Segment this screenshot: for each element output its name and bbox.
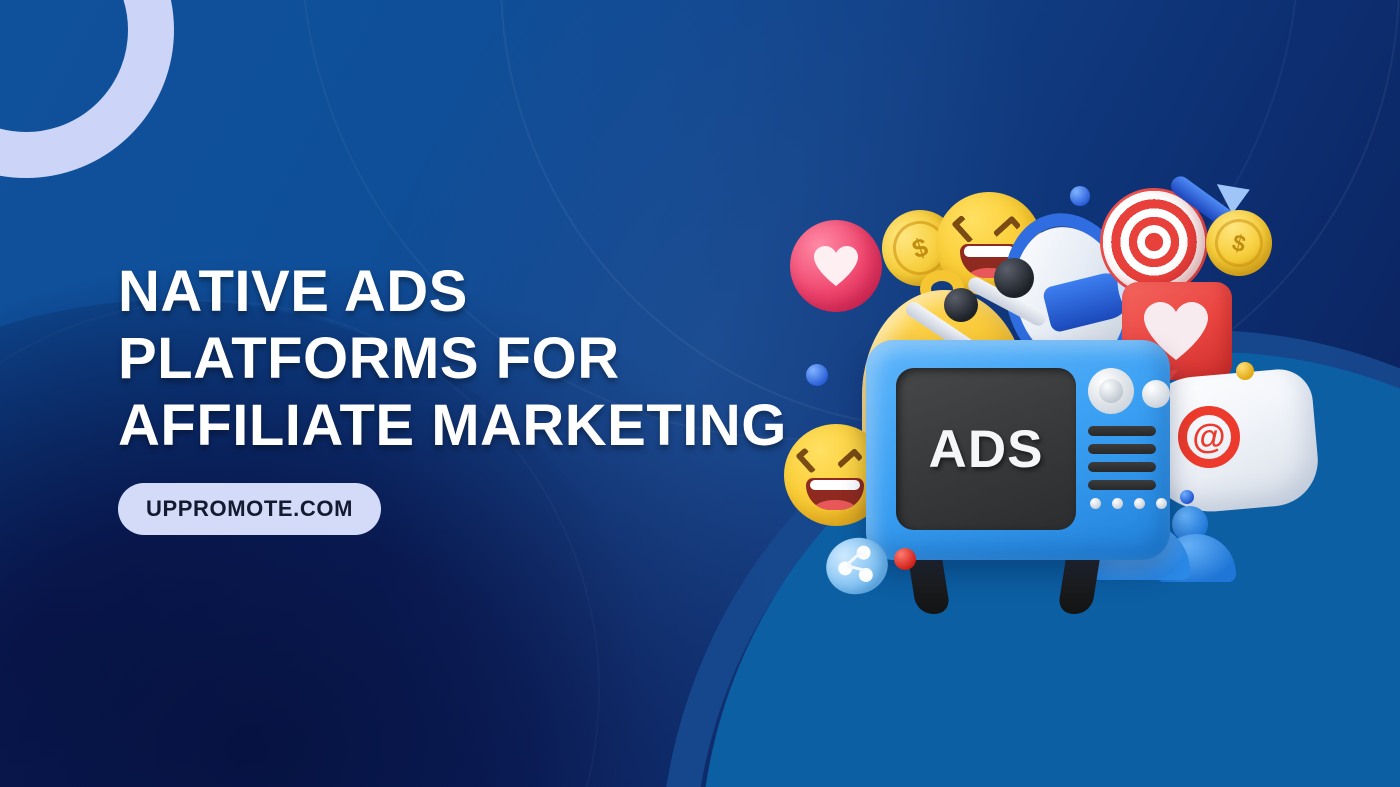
tv-dot-3 <box>1134 498 1145 509</box>
tv-bar-2 <box>1088 444 1156 454</box>
megaphone-joint-lower <box>944 288 978 322</box>
sphere-blue-small <box>1180 490 1194 504</box>
headline-line-3: AFFILIATE MARKETING <box>118 392 758 459</box>
emoji-mouth-2 <box>806 478 864 510</box>
tv-bar-1 <box>1088 426 1156 436</box>
sphere-blue-top <box>1070 186 1090 206</box>
sphere-red <box>894 548 916 570</box>
tv-screen: ADS <box>896 368 1076 530</box>
decorative-ring-top-left <box>0 0 174 178</box>
tv-leg-right <box>1057 552 1101 614</box>
brand-badge[interactable]: UPPROMOTE.COM <box>118 483 381 535</box>
at-sign-icon: @ <box>1178 406 1240 468</box>
headline-line-2: PLATFORMS FOR <box>118 325 758 392</box>
headline-line-1: NATIVE ADS <box>118 258 758 325</box>
emoji-eye-left <box>951 215 979 244</box>
sphere-blue-left <box>806 364 828 386</box>
sphere-yellow <box>1236 362 1254 380</box>
hero-illustration: $ $ @ <box>770 170 1300 610</box>
page-title: NATIVE ADS PLATFORMS FOR AFFILIATE MARKE… <box>118 258 758 459</box>
tv-knob-icon <box>1142 380 1170 408</box>
tv-dot-2 <box>1112 498 1123 509</box>
headline-block: NATIVE ADS PLATFORMS FOR AFFILIATE MARKE… <box>118 258 758 535</box>
banner-root: NATIVE ADS PLATFORMS FOR AFFILIATE MARKE… <box>0 0 1400 787</box>
tv-screen-label: ADS <box>929 419 1044 480</box>
tv-bar-3 <box>1088 462 1156 472</box>
coin-right-symbol: $ <box>1210 214 1268 272</box>
tv-dot-4 <box>1156 498 1167 509</box>
gear-icon <box>1088 368 1134 414</box>
megaphone-joint-upper <box>994 258 1034 298</box>
emoji-eye-left-2 <box>795 447 821 474</box>
emoji-eye-right-2 <box>837 448 864 474</box>
tv-dot-1 <box>1090 498 1101 509</box>
tv-bar-4 <box>1088 480 1156 490</box>
